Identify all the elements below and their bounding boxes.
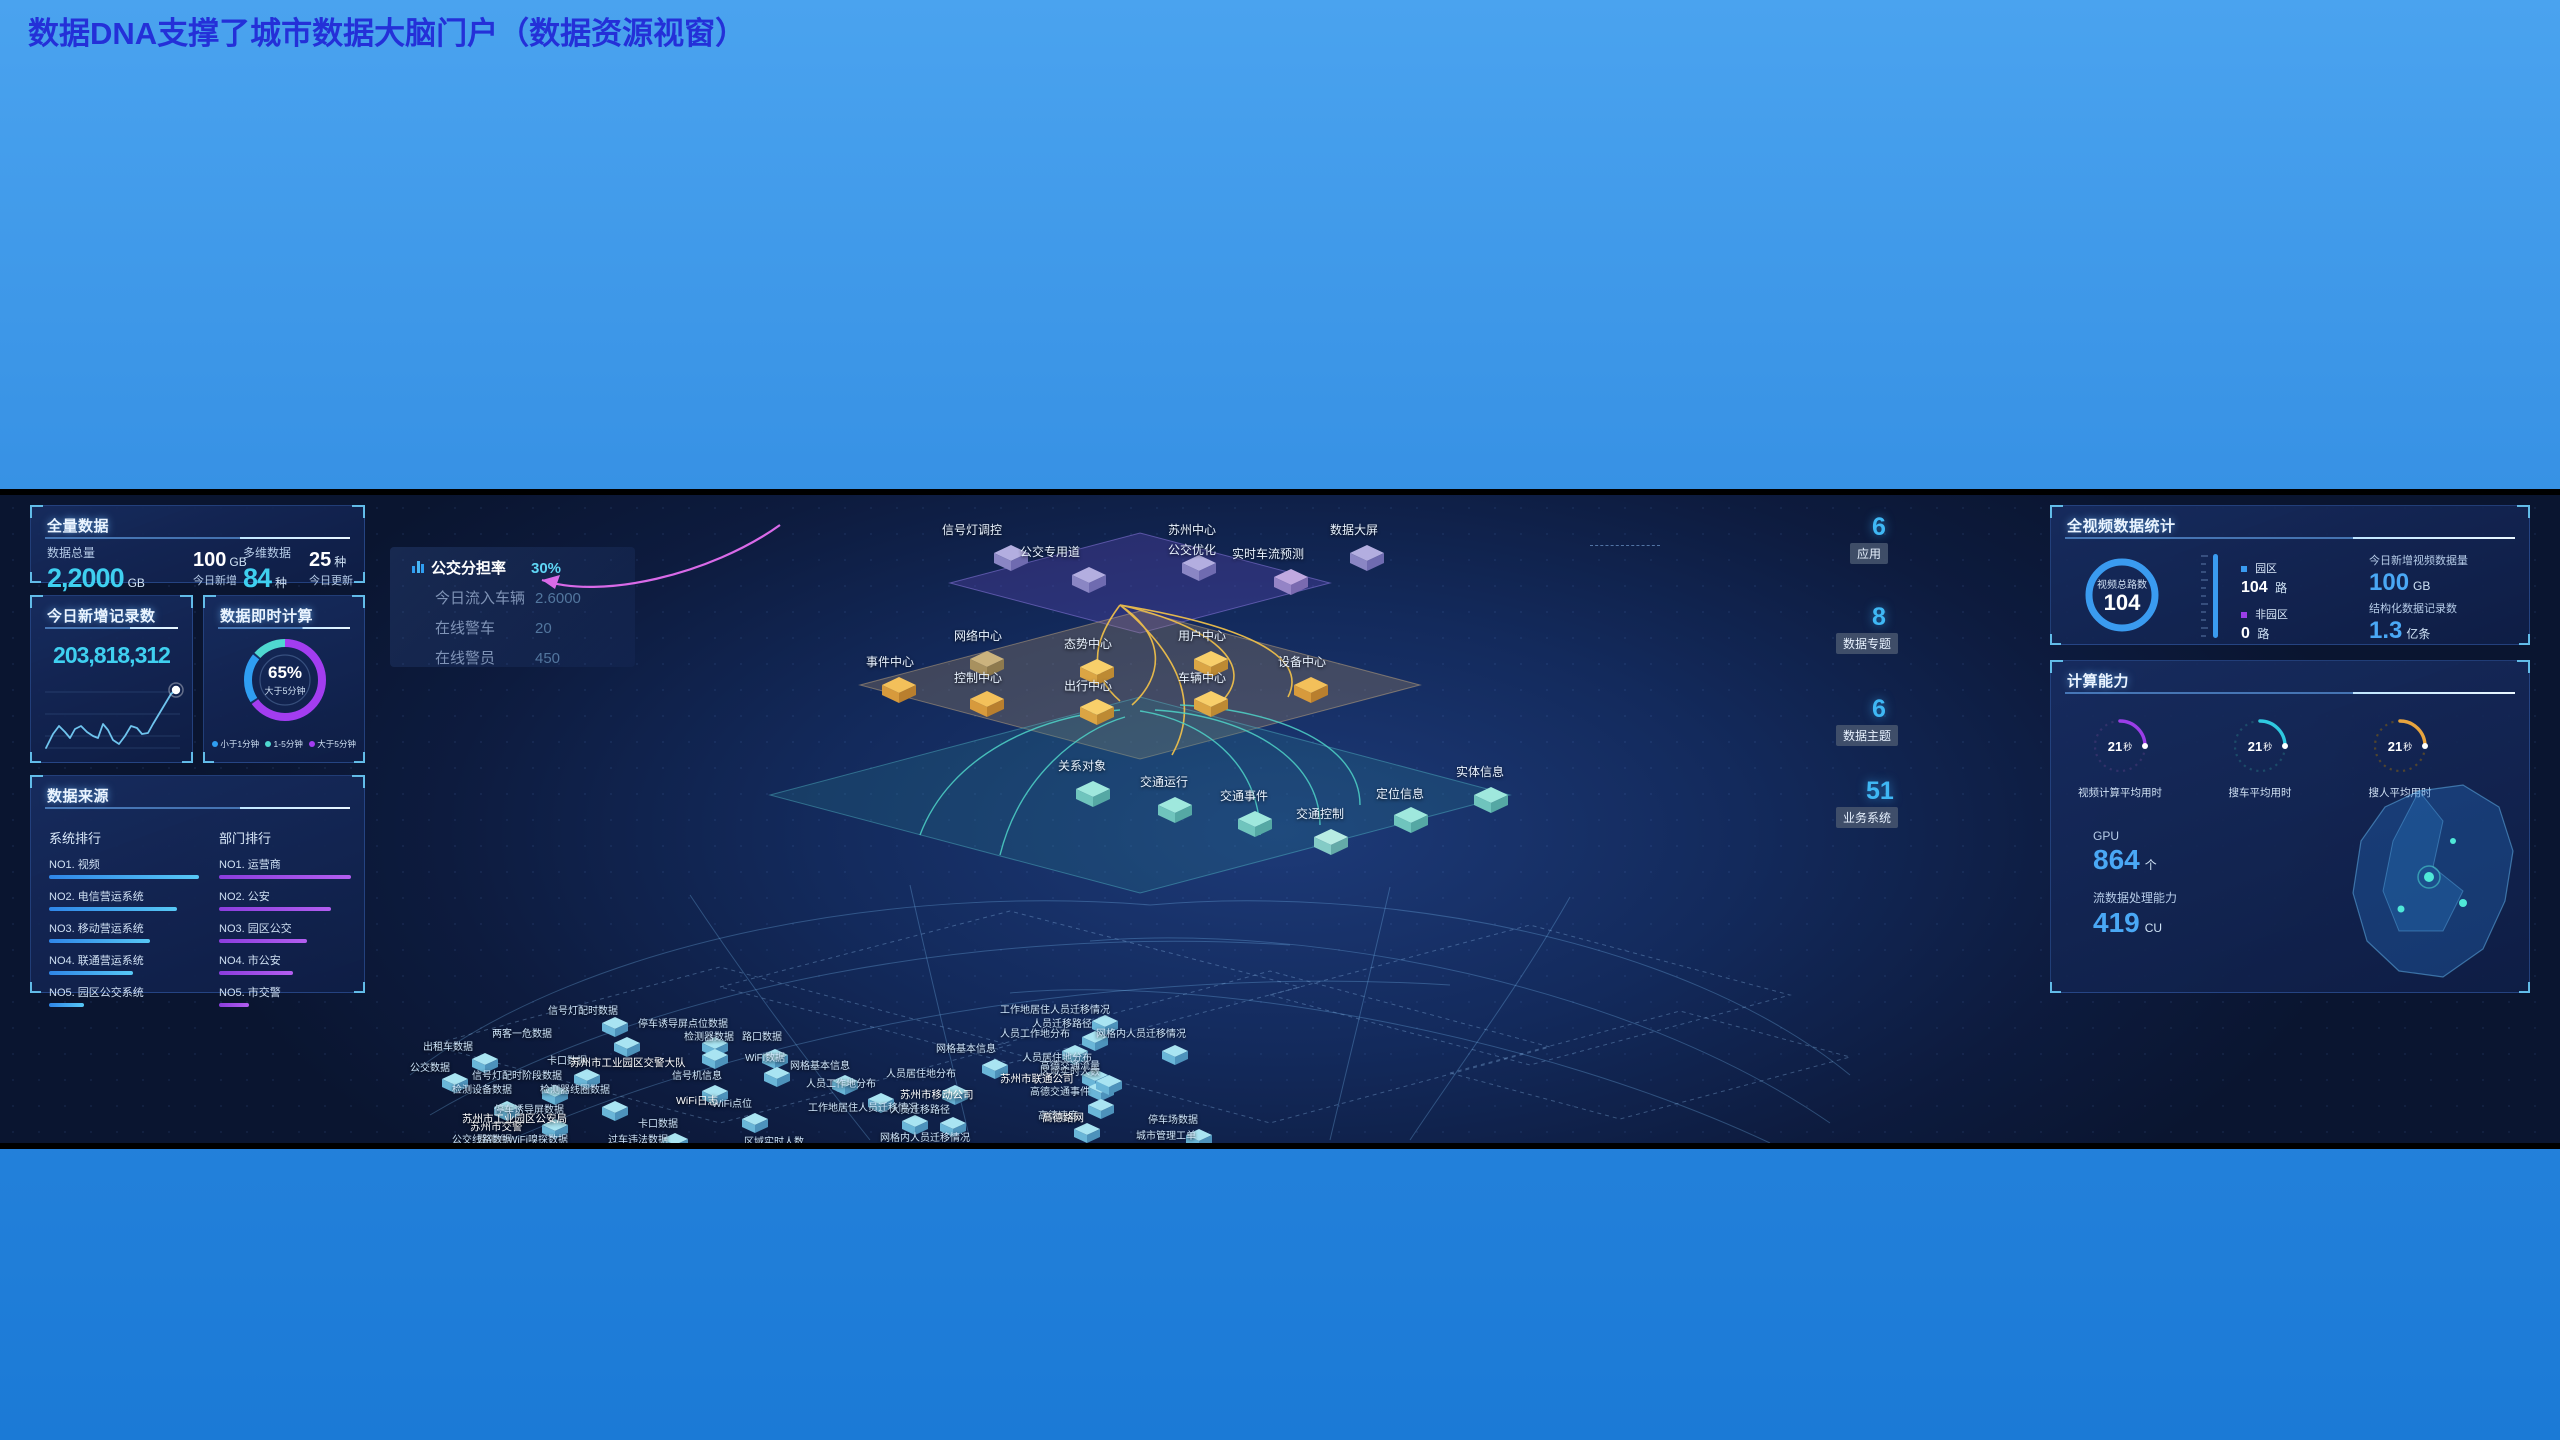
panel-compute-power: 计算能力 21秒 视频计算平均用时 21秒 <box>2050 660 2530 993</box>
list-item[interactable]: NO1. 视频 <box>49 856 199 879</box>
node-label: 控制中心 <box>954 669 1002 686</box>
data-lake-mesh <box>390 875 1870 1143</box>
gauge-unit: 秒 <box>2263 740 2272 753</box>
node-label: 态势中心 <box>1064 635 1112 652</box>
legend-item: 1-5分钟 <box>265 738 303 750</box>
gauge-value-wrap: 21秒 <box>2369 715 2431 777</box>
rank-bar <box>49 971 133 975</box>
node-label: 网络中心 <box>954 627 1002 644</box>
metric-sub-value: 100 <box>193 549 226 572</box>
metric-total-volume: 数据总量 2,2000 GB <box>47 544 145 594</box>
list-item[interactable]: NO3. 移动营运系统 <box>49 920 199 943</box>
rank-bar <box>49 875 199 879</box>
panel-realtime-compute: 数据即时计算 65% 大于5分钟 小于1分钟 1-5分钟 <box>203 595 365 763</box>
rank-column-system: 系统排行 NO1. 视频 NO2. 电信营运系统 NO3. 移动营运系统 NO4… <box>49 828 199 1016</box>
rank-bar <box>219 907 331 911</box>
list-item[interactable]: NO4. 联通营运系统 <box>49 952 199 975</box>
rank-label: NO4. 市公安 <box>219 952 351 968</box>
rank-bar <box>49 907 177 911</box>
metric-sub-label: 今日新增 <box>193 572 247 588</box>
legend-swatch-icon <box>212 741 218 747</box>
panel-data-source: 数据来源 系统排行 NO1. 视频 NO2. 电信营运系统 NO3. 移动营运系… <box>30 775 365 993</box>
rank-bar <box>219 939 307 943</box>
title-rule <box>2065 692 2515 694</box>
list-item[interactable]: NO2. 公安 <box>219 888 351 911</box>
gauge-value: 21 <box>2388 739 2402 754</box>
node-label: 实时车流预测 <box>1232 545 1304 562</box>
title-rule <box>218 627 350 629</box>
rank-bar <box>49 1003 84 1007</box>
stat-label: 今日流入车辆 <box>435 587 535 608</box>
stat-value: 20 <box>535 620 552 637</box>
list-item[interactable]: NO3. 园区公交 <box>219 920 351 943</box>
video-ruler-icon <box>2199 554 2223 638</box>
gpu-stat: GPU 864 个 <box>2093 829 2157 876</box>
panel-title-today-records: 今日新增记录数 <box>47 605 156 626</box>
metric-multidim: 多维数据 84 种 <box>243 544 291 594</box>
gauge-value-wrap: 21秒 <box>2229 715 2291 777</box>
pyramid-layer-theme: 事件中心 网络中心 控制中心 态势中心 出行中心 用户中心 车辆中心 设备中心 <box>820 623 1500 743</box>
node-label: 交通控制 <box>1296 805 1344 822</box>
today-records-sparkline <box>41 676 184 754</box>
metric-unit: 种 <box>275 574 287 591</box>
metric-sub-value: 25 <box>309 549 331 572</box>
gauge-video-compute: 21秒 <box>2089 715 2151 777</box>
legend-swatch-icon <box>2241 566 2247 572</box>
stat-label: 公交分担率 <box>431 557 531 578</box>
legend-tag: 数据专题 <box>1836 633 1898 654</box>
legend-count: 51 <box>1866 777 1894 806</box>
rank-column-department: 部门排行 NO1. 运营商 NO2. 公安 NO3. 园区公交 NO4. 市公安… <box>219 828 351 1016</box>
panel-title-data-source: 数据来源 <box>47 785 109 806</box>
panel-title-video-stats: 全视频数据统计 <box>2067 515 2176 536</box>
gauge-value: 21 <box>2108 739 2122 754</box>
rank-heading: 部门排行 <box>219 828 351 847</box>
rank-label: NO2. 电信营运系统 <box>49 888 199 904</box>
panel-video-stats: 全视频数据统计 视频总路数 104 园区 10 <box>2050 505 2530 645</box>
node-label: 数据大屏 <box>1330 521 1378 538</box>
stat-row: 在线警员 450 <box>412 647 581 668</box>
kpi-unit: 亿条 <box>2406 625 2430 642</box>
legend-unit: 路 <box>2257 627 2269 641</box>
video-legend-nonpark: 非园区 0 路 <box>2241 606 2288 643</box>
pyramid-layer-subject: 关系对象 交通运行 交通事件 交通控制 定位信息 实体信息 <box>1040 743 1600 863</box>
rank-bar <box>49 939 150 943</box>
node-label: 交通运行 <box>1140 773 1188 790</box>
legend-count: 6 <box>1872 695 1886 724</box>
today-records-value: 203,818,312 <box>53 642 170 668</box>
metric-label: 数据总量 <box>47 544 145 561</box>
gauge-caption: 视频计算平均用时 <box>2065 785 2175 800</box>
kpi-label: 结构化数据记录数 <box>2369 600 2457 616</box>
gpu-label: GPU <box>2093 829 2157 843</box>
legend-item: 小于1分钟 <box>212 738 259 750</box>
stream-label: 流数据处理能力 <box>2093 889 2177 906</box>
kpi-label: 今日新增视频数据量 <box>2369 552 2468 568</box>
region-map-icon <box>2323 781 2523 986</box>
rank-label: NO5. 市交警 <box>219 984 351 1000</box>
legend-label: 非园区 <box>2255 609 2288 621</box>
rank-heading: 系统排行 <box>49 828 199 847</box>
list-item[interactable]: NO1. 运营商 <box>219 856 351 879</box>
ring-label: 视频总路数 <box>2097 576 2147 591</box>
gpu-unit: 个 <box>2145 856 2157 873</box>
gauge-unit: 秒 <box>2123 740 2132 753</box>
legend-count: 8 <box>1872 603 1886 632</box>
metric-value: 2,2000 <box>47 563 124 594</box>
gauge-caption: 搜车平均用时 <box>2205 785 2315 800</box>
list-item[interactable]: NO5. 园区公交系统 <box>49 984 199 1007</box>
legend-swatch-icon <box>2241 612 2247 618</box>
node-label: 关系对象 <box>1058 757 1106 774</box>
legend-label: 小于1分钟 <box>220 739 259 749</box>
donut-center-label: 大于5分钟 <box>264 684 305 697</box>
rank-label: NO5. 园区公交系统 <box>49 984 199 1000</box>
metric-label: 多维数据 <box>243 544 291 561</box>
node-label: 交通事件 <box>1220 787 1268 804</box>
metric-total-today: 100 GB 今日新增 <box>193 549 247 588</box>
video-kpi-today: 今日新增视频数据量 100 GB <box>2369 552 2468 597</box>
metric-sub-label: 今日更新 <box>309 572 353 588</box>
panel-title-realtime-compute: 数据即时计算 <box>220 605 313 626</box>
panel-total-data: 全量数据 数据总量 2,2000 GB 100 GB 今日新增 多维数据 84 … <box>30 505 365 583</box>
rank-bar <box>219 875 351 879</box>
legend-value: 0 <box>2241 625 2250 642</box>
list-item[interactable]: NO4. 市公安 <box>219 952 351 975</box>
list-item[interactable]: NO5. 市交警 <box>219 984 351 1007</box>
legend-swatch-icon <box>309 741 315 747</box>
kpi-value: 1.3 <box>2369 617 2402 645</box>
gauge-value: 21 <box>2248 739 2262 754</box>
metric-multidim-today: 25 种 今日更新 <box>309 549 353 588</box>
pyramid-layer-application: 信号灯调控 公交专用道 苏州中心 公交优化 实时车流预测 数据大屏 <box>880 515 1440 625</box>
legend-tag: 应用 <box>1850 543 1888 564</box>
stream-stat: 流数据处理能力 419 CU <box>2093 889 2177 939</box>
stat-label: 在线警车 <box>435 617 535 638</box>
list-item[interactable]: NO2. 电信营运系统 <box>49 888 199 911</box>
panel-title-total-data: 全量数据 <box>47 515 109 536</box>
rank-label: NO2. 公安 <box>219 888 351 904</box>
gauge-person-search: 21秒 <box>2369 715 2431 777</box>
node-label: 实体信息 <box>1456 763 1504 780</box>
panel-title-compute-power: 计算能力 <box>2067 670 2129 691</box>
rank-label: NO1. 运营商 <box>219 856 351 872</box>
rank-label: NO3. 移动营运系统 <box>49 920 199 936</box>
rank-label: NO1. 视频 <box>49 856 199 872</box>
legend-label: 大于5分钟 <box>317 739 356 749</box>
legend-item: 大于5分钟 <box>309 738 356 750</box>
stat-value: 450 <box>535 650 560 667</box>
node-label: 公交优化 <box>1168 541 1216 558</box>
dashboard-frame: 全量数据 数据总量 2,2000 GB 100 GB 今日新增 多维数据 84 … <box>0 489 2560 1149</box>
legend-tag: 数据主题 <box>1836 725 1898 746</box>
gauge-unit: 秒 <box>2403 740 2412 753</box>
stream-value: 419 <box>2093 907 2140 939</box>
rank-bar <box>219 1003 249 1007</box>
dashboard: 全量数据 数据总量 2,2000 GB 100 GB 今日新增 多维数据 84 … <box>0 495 2560 1143</box>
legend-count: 6 <box>1872 513 1886 542</box>
donut-center-value: 65% <box>268 663 302 683</box>
node-label: 车辆中心 <box>1178 669 1226 686</box>
gauge-value-wrap: 21秒 <box>2089 715 2151 777</box>
node-label: 定位信息 <box>1376 785 1424 802</box>
legend-connector <box>1590 545 1660 546</box>
gpu-value: 864 <box>2093 844 2140 876</box>
legend-label: 园区 <box>2255 563 2277 575</box>
legend-label: 1-5分钟 <box>274 739 303 749</box>
node-label: 事件中心 <box>866 653 914 670</box>
video-kpi-records: 结构化数据记录数 1.3 亿条 <box>2369 600 2457 645</box>
panel-today-records: 今日新增记录数 203,818,312 <box>30 595 193 763</box>
legend-tag: 业务系统 <box>1836 807 1898 828</box>
stat-label: 在线警员 <box>435 647 535 668</box>
metric-unit: GB <box>128 576 145 590</box>
node-label: 设备中心 <box>1278 653 1326 670</box>
node-label: 用户中心 <box>1178 627 1226 644</box>
legend-unit: 路 <box>2275 581 2287 595</box>
metric-value: 84 <box>243 563 271 594</box>
bar-chart-icon <box>412 560 424 573</box>
metric-sub-unit: 种 <box>334 553 346 570</box>
rank-label: NO3. 园区公交 <box>219 920 351 936</box>
kpi-value: 100 <box>2369 569 2409 597</box>
legend-swatch-icon <box>265 741 271 747</box>
page-title: 数据DNA支撑了城市数据大脑门户（数据资源视窗） <box>28 8 746 53</box>
node-label: 信号灯调控 <box>942 521 1002 538</box>
node-label: 出行中心 <box>1064 677 1112 694</box>
kpi-unit: GB <box>2413 579 2430 593</box>
stream-unit: CU <box>2145 921 2162 935</box>
node-label: 公交专用道 <box>1020 543 1080 560</box>
rank-bar <box>219 971 293 975</box>
title-rule <box>2065 537 2515 539</box>
stat-row: 在线警车 20 <box>412 617 581 638</box>
ring-value: 104 <box>2104 591 2141 614</box>
rank-label: NO4. 联通营运系统 <box>49 952 199 968</box>
legend-value: 104 <box>2241 579 2268 596</box>
title-rule <box>45 807 350 809</box>
title-rule <box>45 537 350 539</box>
video-legend-park: 园区 104 路 <box>2241 560 2287 597</box>
gauge-vehicle-search: 21秒 <box>2229 715 2291 777</box>
title-rule <box>45 627 178 629</box>
donut-legend: 小于1分钟 1-5分钟 大于5分钟 <box>212 738 356 750</box>
node-label: 苏州中心 <box>1168 521 1216 538</box>
